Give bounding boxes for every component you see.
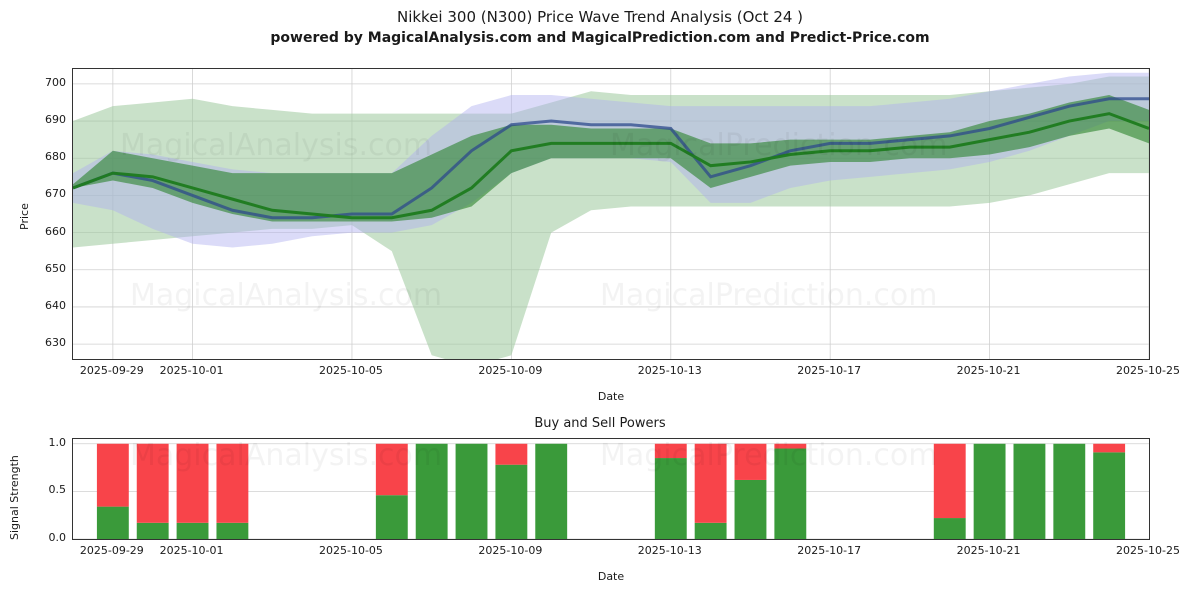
chart-title-line1: Nikkei 300 (N300) Price Wave Trend Analy… (0, 8, 1200, 26)
price-x-axis-label: Date (72, 390, 1150, 403)
price-chart-plot (73, 69, 1149, 359)
price-y-tick: 630 (26, 336, 66, 349)
price-x-tick: 2025-10-17 (784, 364, 874, 377)
signal-x-axis-label: Date (72, 570, 1150, 583)
chart-page: Nikkei 300 (N300) Price Wave Trend Analy… (0, 0, 1200, 600)
signal-x-tick: 2025-10-25 (1103, 544, 1193, 557)
price-x-tick: 2025-10-05 (306, 364, 396, 377)
signal-x-tick: 2025-10-01 (147, 544, 237, 557)
signal-x-tick: 2025-09-29 (67, 544, 157, 557)
price-y-tick: 700 (26, 76, 66, 89)
signal-chart-panel (72, 438, 1150, 540)
signal-y-tick: 0.5 (34, 483, 66, 496)
price-y-tick: 660 (26, 225, 66, 238)
chart-title-line2: powered by MagicalAnalysis.com and Magic… (0, 30, 1200, 46)
price-x-tick: 2025-10-25 (1103, 364, 1193, 377)
signal-y-tick: 1.0 (34, 436, 66, 449)
signal-x-tick: 2025-10-09 (465, 544, 555, 557)
signal-y-axis-label: Signal Strength (8, 455, 21, 540)
price-x-tick: 2025-09-29 (67, 364, 157, 377)
price-y-tick: 650 (26, 262, 66, 275)
signal-y-tick: 0.0 (34, 531, 66, 544)
price-y-tick: 640 (26, 299, 66, 312)
signal-x-tick: 2025-10-05 (306, 544, 396, 557)
price-x-tick: 2025-10-01 (147, 364, 237, 377)
price-chart-panel (72, 68, 1150, 360)
price-y-tick: 670 (26, 187, 66, 200)
sub-chart-title: Buy and Sell Powers (0, 416, 1200, 431)
price-x-tick: 2025-10-09 (465, 364, 555, 377)
signal-x-tick: 2025-10-17 (784, 544, 874, 557)
price-x-tick: 2025-10-13 (625, 364, 715, 377)
signal-x-tick: 2025-10-21 (944, 544, 1034, 557)
signal-chart-plot (73, 439, 1149, 539)
signal-x-tick: 2025-10-13 (625, 544, 715, 557)
price-y-tick: 680 (26, 150, 66, 163)
price-y-tick: 690 (26, 113, 66, 126)
price-x-tick: 2025-10-21 (944, 364, 1034, 377)
